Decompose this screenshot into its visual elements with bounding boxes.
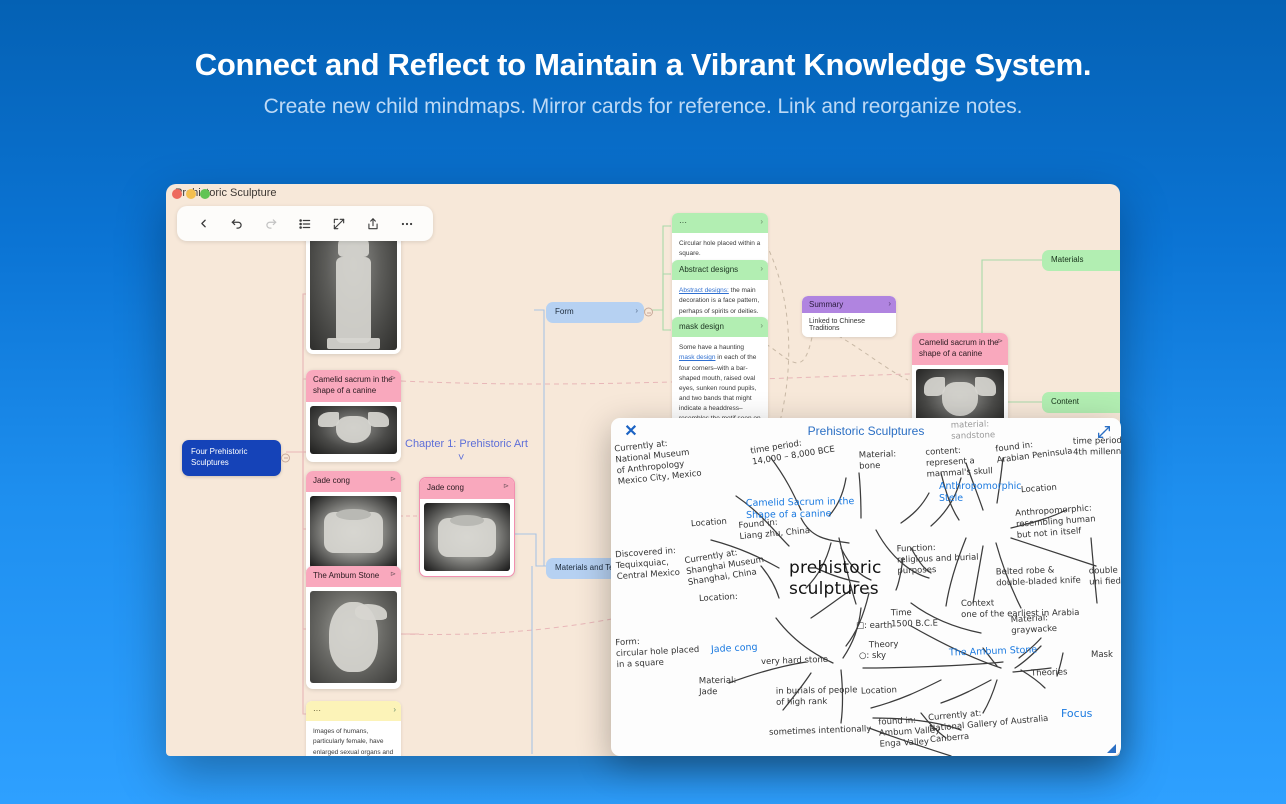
stele-photo — [310, 228, 397, 350]
hero-section: Connect and Reflect to Maintain a Vibran… — [0, 0, 1286, 119]
card-anthropomorphic-stele[interactable] — [306, 224, 401, 354]
card-jade-cong[interactable]: Jade cong ⊳ — [306, 471, 401, 575]
overlay-mindmap-canvas[interactable]: prehistoricsculptures Camelid Sacrum in … — [611, 418, 1121, 756]
note-body: Images of humans, particularly female, h… — [306, 721, 401, 756]
note-card-circular-hole[interactable]: ··· › Circular hole placed within a squa… — [672, 213, 768, 267]
mirror-icon[interactable]: ⊳ — [390, 570, 396, 579]
overlay-branch-label: Material: graywacke — [1010, 613, 1057, 637]
overlay-center-node: prehistoricsculptures — [789, 558, 882, 601]
minimize-window-button[interactable] — [186, 189, 196, 199]
note-inline-link[interactable]: Abstract designs: — [679, 287, 729, 294]
note-card-abstract-designs[interactable]: Abstract designs › Abstract designs: the… — [672, 260, 768, 324]
chevron-down-icon[interactable]: ˅ — [458, 452, 464, 464]
jade-cong-photo — [424, 503, 510, 571]
note-header: ··· › — [306, 701, 401, 721]
note-card-yellow[interactable]: ··· › Images of humans, particularly fem… — [306, 701, 401, 756]
overlay-branch-label: Form: circular hole placed in a square — [615, 634, 700, 671]
overlay-branch-label: Mask — [1091, 650, 1113, 661]
overlay-branch-label: very hard stone — [761, 655, 828, 668]
overlay-branch-label: Anthropomorphic: resembling human but no… — [1015, 503, 1097, 542]
chevron-right-icon[interactable]: › — [393, 705, 396, 715]
overlay-topic-jade-cong[interactable]: Jade cong — [711, 642, 758, 657]
back-button[interactable] — [191, 212, 215, 236]
maximize-window-button[interactable] — [200, 189, 210, 199]
overlay-branch-label: □: earth — [856, 621, 892, 632]
card-ambum-stone[interactable]: The Ambum Stone ⊳ — [306, 566, 401, 689]
node-materials[interactable]: Materials — [1042, 250, 1120, 271]
undo-icon[interactable] — [225, 212, 249, 236]
chevron-right-icon[interactable]: › — [888, 299, 891, 308]
window-titlebar — [166, 184, 1120, 204]
chevron-right-icon[interactable]: › — [760, 321, 763, 331]
jade-cong-photo — [310, 496, 397, 568]
root-node[interactable]: Four Prehistoric Sculptures — [182, 440, 281, 476]
note-header: mask design › — [672, 317, 768, 337]
node-summary[interactable]: Summary › Linked to Chinese Traditions — [802, 296, 896, 337]
overlay-topic-stele[interactable]: Anthropomorphic Stele — [939, 481, 1022, 506]
overlay-branch-label: double uni fied — [1089, 565, 1121, 588]
share-upload-icon[interactable] — [361, 212, 385, 236]
chevron-right-icon[interactable]: › — [760, 217, 763, 227]
redo-icon[interactable] — [259, 212, 283, 236]
node-content[interactable]: Content — [1042, 392, 1120, 413]
chevron-right-icon[interactable]: › — [635, 306, 638, 317]
overlay-branch-label: Theory — [869, 639, 899, 651]
note-header: Abstract designs › — [672, 260, 768, 280]
mirror-icon[interactable]: ⊳ — [390, 374, 396, 383]
card-title: Jade cong ⊳ — [420, 478, 514, 499]
overlay-branch-label: Material: Jade — [699, 676, 737, 699]
mirror-icon[interactable]: ⊳ — [503, 482, 509, 491]
close-window-button[interactable] — [172, 189, 182, 199]
resize-handle[interactable] — [1107, 744, 1116, 753]
card-title: The Ambum Stone ⊳ — [306, 566, 401, 587]
page-subtitle: Create new child mindmaps. Mirror cards … — [0, 95, 1286, 119]
overlay-branch-label: Time 1500 B.C.E — [891, 608, 938, 631]
overlay-branch-label: Material: bone — [859, 449, 897, 472]
card-title: Jade cong ⊳ — [306, 471, 401, 492]
collapse-toggle[interactable] — [281, 453, 290, 462]
child-mindmap-overlay[interactable]: ✕ Prehistoric Sculptures — [611, 418, 1121, 756]
summary-header: Summary › — [802, 296, 896, 313]
overlay-branch-label: Function: religious and burial purposes — [896, 542, 979, 578]
overlay-branch-label: Discovered in: Tequixquiac, Central Mexi… — [615, 546, 681, 583]
chapter-label: Chapter 1: Prehistoric Art — [405, 438, 528, 450]
node-materials-label: Materials — [1051, 255, 1083, 264]
overlay-focus-label[interactable]: Focus — [1058, 706, 1095, 722]
toolbar — [177, 206, 433, 241]
overlay-branch-label: Theories — [1031, 667, 1068, 679]
mirror-icon[interactable]: ⊳ — [390, 475, 396, 484]
overlay-branch-label: Belted robe & double-bladed knife — [996, 565, 1081, 590]
ambum-stone-photo — [310, 591, 397, 683]
note-header: ··· › — [672, 213, 768, 233]
node-form[interactable]: Form › — [546, 302, 644, 323]
collapse-toggle[interactable] — [644, 308, 653, 317]
chevron-right-icon[interactable]: › — [760, 264, 763, 274]
overlay-branch-label: Location — [861, 685, 897, 697]
more-ellipsis-icon[interactable] — [395, 212, 419, 236]
overlay-branch-label: ○: sky — [859, 651, 886, 662]
mirror-card-jade-cong[interactable]: Jade cong ⊳ — [419, 477, 515, 577]
canine-skull-photo — [310, 406, 397, 454]
overlay-branch-label: content: represent a mammal's skull — [925, 444, 993, 481]
mirror-icon[interactable]: ⊳ — [997, 337, 1003, 346]
outline-list-icon[interactable] — [293, 212, 317, 236]
page-title: Connect and Reflect to Maintain a Vibran… — [0, 47, 1286, 83]
overlay-titlebar — [611, 418, 1121, 446]
node-form-label: Form — [555, 307, 574, 316]
note-inline-link[interactable]: mask design — [679, 354, 716, 361]
card-camelid-sacrum[interactable]: Camelid sacrum in the shape of a canine … — [306, 370, 401, 462]
overlay-branch-label: in burials of people of high rank — [776, 685, 858, 709]
edit-pencil-icon[interactable] — [327, 212, 351, 236]
summary-body: Linked to Chinese Traditions — [802, 313, 896, 337]
overlay-branch-label: Location: — [699, 592, 738, 605]
root-node-label: Four Prehistoric Sculptures — [191, 447, 247, 467]
node-content-label: Content — [1051, 397, 1079, 406]
card-title: Camelid sacrum in the shape of a canine … — [912, 333, 1008, 365]
card-title: Camelid sacrum in the shape of a canine … — [306, 370, 401, 402]
